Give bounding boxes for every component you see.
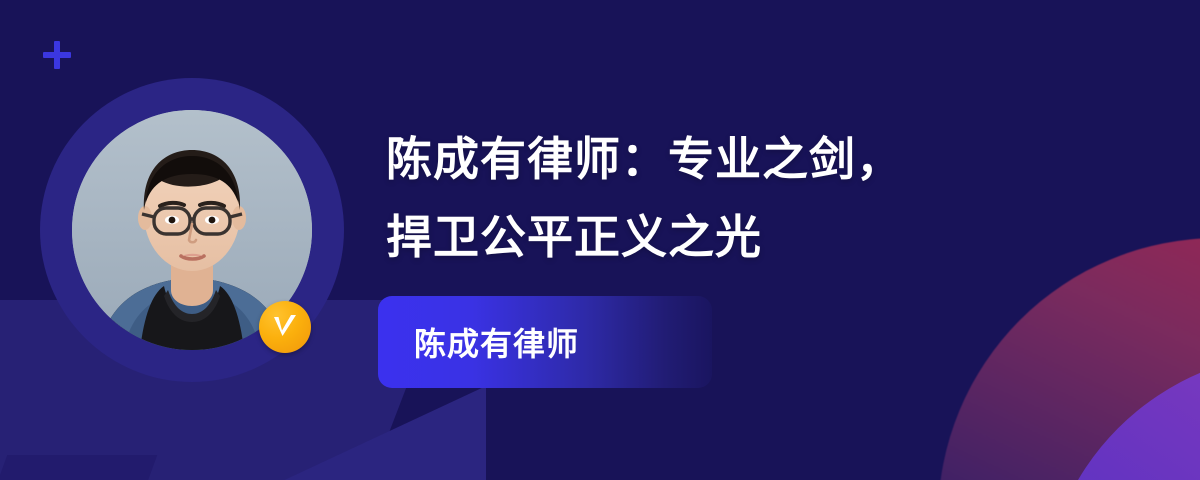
page-title: 陈成有律师：专业之剑， 捍卫公平正义之光 [386, 120, 1086, 276]
lawyer-name-button[interactable]: 陈成有律师 [378, 296, 712, 388]
banner-content: 陈成有律师：专业之剑， 捍卫公平正义之光 陈成有律师 [386, 120, 1086, 276]
plus-icon [43, 41, 71, 69]
verified-check-icon [259, 301, 311, 353]
avatar [40, 78, 344, 382]
lawyer-profile-banner: 陈成有律师：专业之剑， 捍卫公平正义之光 陈成有律师 [0, 0, 1200, 480]
decor-angled-plate-bottom [0, 455, 157, 480]
